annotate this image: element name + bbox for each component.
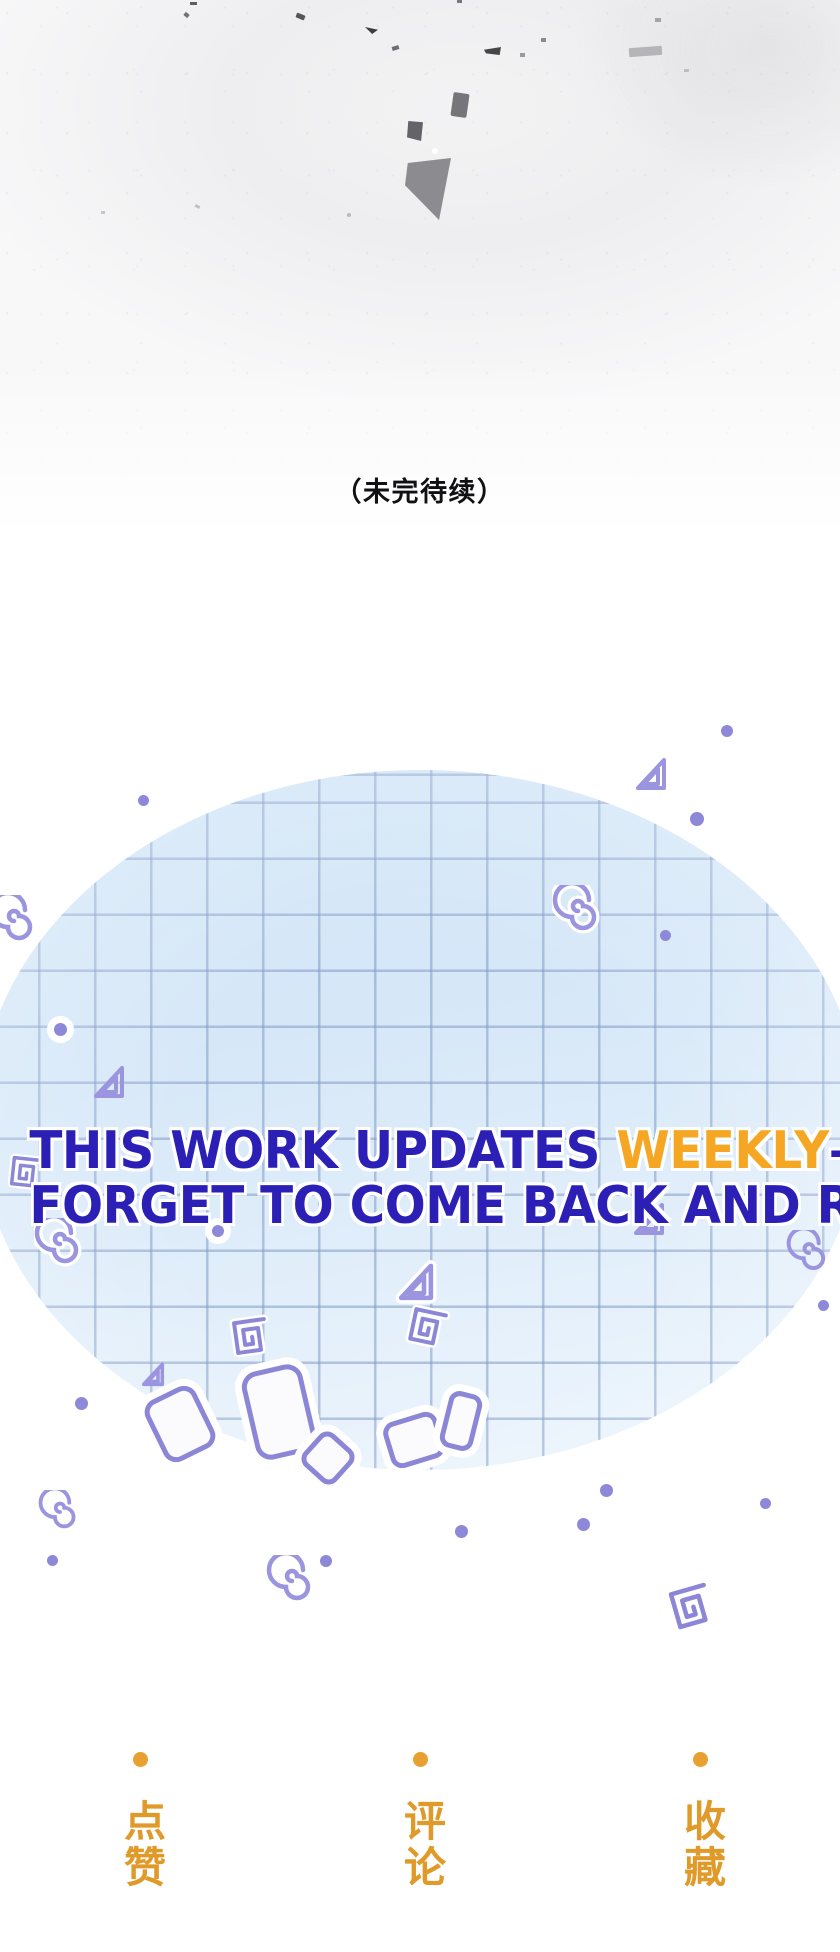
decorative-dot bbox=[690, 812, 704, 826]
round-spiral-icon bbox=[0, 895, 40, 947]
decorative-dot bbox=[660, 930, 671, 941]
decorative-dot bbox=[47, 1555, 58, 1566]
decorative-dot bbox=[818, 1300, 829, 1311]
round-spiral-icon bbox=[38, 1490, 82, 1534]
decorative-dot bbox=[600, 1484, 613, 1497]
comment-dot-icon bbox=[413, 1752, 428, 1767]
like-dot-icon bbox=[133, 1752, 148, 1767]
favorite-button[interactable]: 收藏 bbox=[605, 1752, 795, 1891]
decorative-dot bbox=[138, 795, 149, 806]
panel-highlight-noise bbox=[560, 0, 840, 200]
debris-fragment bbox=[190, 2, 197, 5]
favorite-dot-icon bbox=[693, 1752, 708, 1767]
to-be-continued-text: （未完待续） bbox=[0, 470, 840, 509]
debris-fragment bbox=[450, 92, 469, 118]
headline-line1-post: —DON’T bbox=[829, 1121, 840, 1181]
comment-button[interactable]: 评论 bbox=[325, 1752, 515, 1891]
debris-fragment bbox=[457, 0, 462, 3]
decorative-dot bbox=[54, 1023, 67, 1036]
triangle-spiral-icon bbox=[138, 1360, 168, 1390]
reader-action-bar: 点赞 评论 收藏 bbox=[0, 1700, 840, 1952]
debris-fragment bbox=[101, 211, 105, 214]
decorative-dot bbox=[577, 1518, 590, 1531]
debris-fragment bbox=[520, 53, 525, 57]
update-schedule-headline: THIS WORK UPDATES WEEKLY—DON’T FORGET TO… bbox=[29, 1125, 810, 1233]
round-spiral-icon bbox=[786, 1230, 832, 1276]
debris-fragment bbox=[347, 213, 351, 217]
triangle-spiral-icon bbox=[630, 755, 672, 795]
favorite-label: 收藏 bbox=[676, 1799, 723, 1891]
square-spiral-icon bbox=[401, 1300, 456, 1355]
debris-sparkle bbox=[432, 148, 438, 154]
like-label: 点赞 bbox=[116, 1799, 163, 1891]
comment-label: 评论 bbox=[396, 1799, 443, 1891]
decorative-dot bbox=[455, 1525, 468, 1538]
like-button[interactable]: 点赞 bbox=[45, 1752, 235, 1891]
decorative-dot bbox=[760, 1498, 771, 1509]
triangle-spiral-icon bbox=[88, 1063, 130, 1103]
round-spiral-icon bbox=[266, 1555, 318, 1607]
debris-fragment bbox=[407, 121, 423, 141]
square-spiral-icon bbox=[660, 1574, 724, 1638]
square-spiral-icon bbox=[225, 1310, 277, 1362]
headline-line1-pre: THIS WORK UPDATES bbox=[29, 1121, 616, 1181]
decorative-dot bbox=[721, 725, 733, 737]
decorative-dot bbox=[75, 1397, 88, 1410]
triangle-spiral-icon bbox=[392, 1260, 440, 1306]
debris-fragment bbox=[655, 18, 661, 22]
debris-fragment bbox=[541, 38, 546, 42]
decorative-dot bbox=[320, 1555, 332, 1567]
round-spiral-icon bbox=[552, 885, 604, 937]
debris-fragment bbox=[684, 69, 689, 72]
grid-ellipse-fade bbox=[0, 770, 840, 1470]
headline-highlight-weekly: WEEKLY bbox=[616, 1121, 828, 1181]
comic-final-panel bbox=[0, 0, 840, 600]
headline-line2: FORGET TO COME BACK AND READ~ bbox=[29, 1180, 810, 1233]
